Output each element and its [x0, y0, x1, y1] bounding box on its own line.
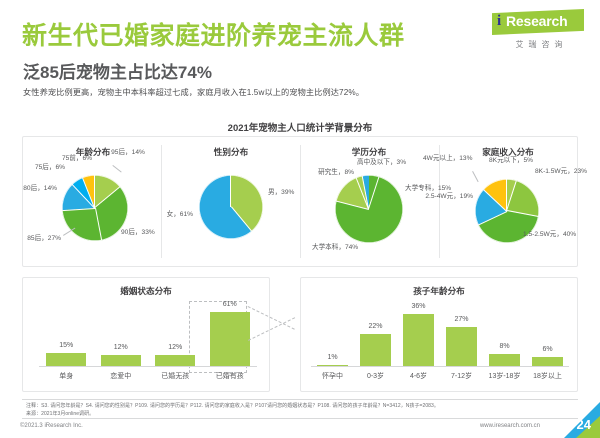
chart-title-education: 学历分布 — [339, 146, 399, 158]
pie-label-income-8k: 8K元以下，5% — [489, 157, 529, 166]
bar-value-label: 22% — [354, 323, 397, 330]
bar-category-label: 已婚有孩 — [203, 371, 258, 381]
x-axis — [39, 366, 257, 367]
bar-category-label: 13岁-18岁 — [483, 371, 526, 381]
pie-chart-age — [62, 175, 128, 241]
pie-label-income-15-25w: 1.5-2.5W元，40% — [523, 231, 573, 240]
bar-value-label: 8% — [483, 343, 526, 350]
pie-label-age-90: 90后，33% — [121, 229, 159, 238]
pie-slice-separator — [368, 176, 379, 209]
pie-label-edu-bachelor: 大学本科，74% — [312, 244, 382, 253]
footnote-line-1: 注释：S3. 请问您年龄是？S4. 请问您的性别是？P109. 请问您的学历是？… — [26, 402, 439, 409]
bar-category-label: 0-3岁 — [354, 371, 397, 381]
bar-category-label: 怀孕中 — [311, 371, 354, 381]
pie-chart-gender — [199, 175, 263, 239]
pie-label-age-85: 85后，27% — [21, 235, 61, 244]
pie-slice-separator — [507, 210, 539, 217]
bar — [210, 312, 250, 366]
iresearch-logo: i Research 艾瑞咨询 — [492, 9, 588, 51]
bar — [155, 355, 195, 366]
bar-category-label: 7-12岁 — [440, 371, 483, 381]
pie-slice-separator — [230, 175, 231, 207]
pie-label-age-75after: 75后，6% — [21, 164, 65, 173]
pie-slice-separator — [336, 201, 369, 210]
demographics-panel: 年龄分布 95后，14% 90后，33% 85后，27% 80后，14% 75后… — [22, 136, 578, 267]
page-lede: 女性养宠比例更高，宠物主中本科率超过七成，家庭月收入在1.5w以上的宠物主比例达… — [23, 86, 364, 98]
pie-label-gender-female: 女，61% — [159, 211, 193, 220]
bar — [532, 357, 563, 366]
footer-divider-top — [22, 399, 578, 400]
x-axis — [311, 366, 569, 367]
bar-category-label: 恋爱中 — [94, 371, 149, 381]
marital-status-panel: 婚姻状态分布 15%单身12%恋爱中12%已婚无孩61%已婚有孩 — [22, 277, 270, 392]
page-title: 新生代已婚家庭进阶养宠主流人群 — [22, 16, 405, 52]
pie-chart-education — [335, 175, 403, 243]
pie-label-income-4w-plus: 4W元以上，13% — [423, 155, 471, 164]
pie-slice-separator — [94, 186, 120, 208]
bar-category-label: 4-6岁 — [397, 371, 440, 381]
pie-slice-separator — [72, 184, 95, 209]
logo-banner-shape: i Research — [492, 9, 584, 35]
logo-i-mark: i — [497, 13, 501, 30]
bar-category-label: 18岁以上 — [526, 371, 569, 381]
page-subtitle: 泛85后宠物主占比达74% — [23, 58, 212, 83]
leader-line — [472, 171, 479, 182]
pie-slice-separator — [94, 175, 95, 208]
panel-divider — [161, 145, 162, 258]
chart-title-child-age: 孩子年龄分布 — [301, 285, 577, 297]
chart-title-marital: 婚姻状态分布 — [23, 285, 269, 297]
chart-title-gender: 性别分布 — [201, 146, 261, 158]
pie-slice-separator — [95, 208, 102, 241]
bar-value-label: 6% — [526, 346, 569, 353]
section-title: 2021年宠物主人口统计学背景分布 — [0, 120, 600, 134]
leader-line — [112, 165, 121, 173]
pie-slice-separator — [231, 206, 252, 231]
pie-slice-separator — [483, 189, 507, 212]
bar-value-label: 27% — [440, 316, 483, 323]
slide-root: 新生代已婚家庭进阶养宠主流人群 泛85后宠物主占比达74% 女性养宠比例更高，宠… — [0, 0, 600, 438]
pie-slice-separator — [506, 180, 517, 211]
pie-label-age-75before: 75前，6% — [59, 155, 95, 164]
bar-value-label: 12% — [148, 344, 203, 351]
pie-label-income-8k-15w: 8K-1.5W元，23% — [535, 168, 583, 177]
bar-value-label: 36% — [397, 303, 440, 310]
bar-category-label: 单身 — [39, 371, 94, 381]
panel-divider — [300, 145, 301, 258]
page-number: 24 — [577, 417, 591, 432]
footnote-line-2: 来源：2021年3月online调研。 — [26, 410, 94, 417]
logo-chinese-name: 艾瑞咨询 — [492, 39, 588, 50]
bar — [317, 365, 348, 366]
bar — [360, 334, 391, 366]
child-age-panel: 孩子年龄分布 1%怀孕中22%0-3岁36%4-6岁27%7-12岁8%13岁-… — [300, 277, 578, 392]
pie-label-age-95: 95后，14% — [111, 149, 145, 158]
copyright-text: ©2021.3 iResearch Inc. — [20, 423, 83, 429]
pie-label-edu-master: 研究生，8% — [302, 169, 354, 178]
pie-slice-separator — [478, 211, 507, 226]
pie-slice-separator — [62, 208, 95, 211]
pie-label-edu-highschool: 高中及以下，3% — [357, 159, 427, 168]
pie-label-age-80: 80后，14% — [17, 185, 57, 194]
bar-value-label: 1% — [311, 354, 354, 361]
bar-value-label: 12% — [94, 344, 149, 351]
bar-value-label: 15% — [39, 342, 94, 349]
pie-label-gender-male: 男，39% — [268, 189, 298, 198]
bar — [446, 327, 477, 366]
bar — [46, 353, 86, 366]
logo-wordmark: Research — [506, 13, 567, 29]
bar-category-label: 已婚无孩 — [148, 371, 203, 381]
bar — [489, 354, 520, 366]
bar — [101, 355, 141, 366]
bar — [403, 314, 434, 366]
footer-divider-bottom — [22, 418, 578, 419]
pie-label-income-25-4w: 2.5-4W元，19% — [423, 193, 473, 202]
